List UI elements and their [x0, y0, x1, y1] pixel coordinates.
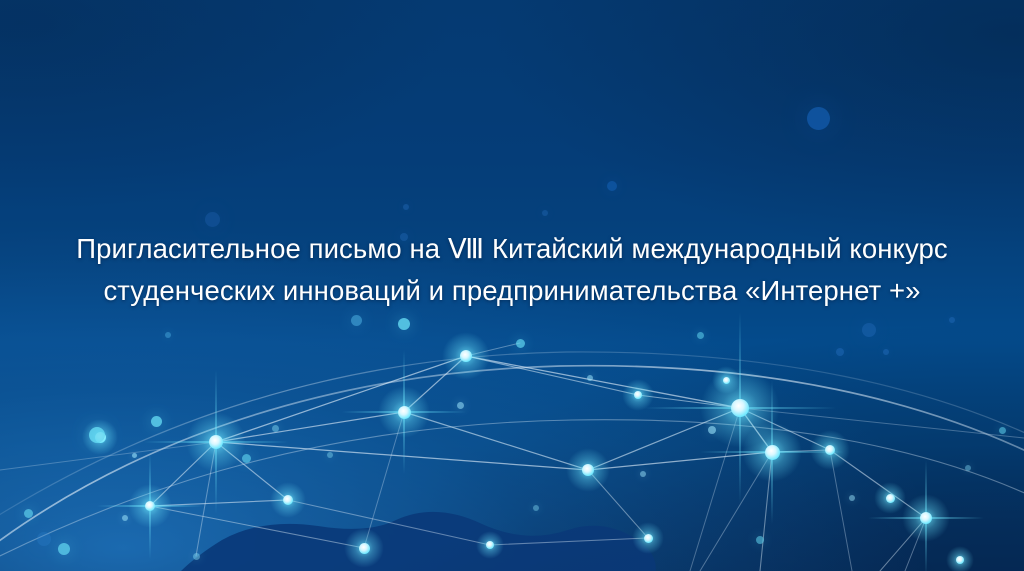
particle: [24, 509, 33, 518]
particle: [58, 543, 70, 555]
particle: [398, 318, 410, 330]
particle: [640, 471, 646, 477]
node-glow: [632, 522, 664, 554]
particle: [862, 323, 876, 337]
particle: [205, 212, 220, 227]
node-core: [486, 541, 494, 549]
particle: [697, 332, 704, 339]
node-flare: [97, 505, 203, 507]
node-glow: [700, 368, 780, 448]
particle: [89, 427, 105, 443]
title-line-1: Пригласительное письмо на Ⅷ Китайский ме…: [22, 228, 1002, 270]
particle: [242, 454, 251, 463]
node-flare: [771, 380, 773, 524]
title-line-1-prefix: Пригласительное письмо на: [76, 233, 448, 264]
particle: [807, 107, 830, 130]
globe-sphere: [0, 390, 1024, 571]
particle: [351, 315, 362, 326]
node-glow: [902, 494, 950, 542]
node-glow: [344, 528, 384, 568]
node-flare: [868, 517, 983, 519]
node-glow: [82, 419, 118, 455]
node-core: [634, 391, 642, 399]
node-core: [731, 399, 749, 417]
particle: [883, 349, 889, 355]
particle: [122, 515, 128, 521]
node-core: [460, 350, 472, 362]
page-title: Пригласительное письмо на Ⅷ Китайский ме…: [0, 228, 1024, 312]
node-core: [825, 445, 835, 455]
particle: [516, 339, 525, 348]
particle: [607, 181, 617, 191]
particle: [756, 536, 764, 544]
node-flare: [144, 441, 288, 443]
title-line-2: студенческих инноваций и предприниматель…: [22, 270, 1002, 312]
particle: [272, 425, 279, 432]
node-core: [886, 494, 895, 503]
node-glow: [566, 448, 610, 492]
title-line-1-suffix: Китайский международный конкурс: [484, 233, 948, 264]
node-core: [209, 435, 223, 449]
globe-graphic: [0, 390, 1024, 571]
particle: [193, 553, 200, 560]
title-slide: Пригласительное письмо на Ⅷ Китайский ме…: [0, 0, 1024, 571]
particle: [37, 532, 51, 546]
particle: [165, 332, 171, 338]
node-glow: [128, 484, 172, 528]
node-core: [398, 406, 411, 419]
node-core: [920, 512, 932, 524]
particle: [542, 210, 548, 216]
node-glow: [946, 546, 974, 571]
particle: [151, 416, 162, 427]
node-flare: [700, 451, 844, 453]
node-core: [145, 501, 155, 511]
node-glow: [874, 482, 906, 514]
node-glow: [442, 332, 490, 380]
node-core: [283, 495, 293, 505]
node-flare: [215, 370, 217, 514]
globe-continents: [0, 390, 1024, 571]
particle: [327, 452, 333, 458]
node-core: [723, 377, 730, 384]
particle: [587, 375, 593, 381]
particle: [533, 505, 539, 511]
node-flare: [925, 460, 927, 571]
node-core: [644, 534, 653, 543]
particle: [836, 348, 844, 356]
node-core: [956, 556, 964, 564]
particle: [708, 426, 716, 434]
particle: [965, 465, 971, 471]
node-core: [95, 432, 106, 443]
node-glow: [712, 366, 740, 394]
node-core: [359, 543, 370, 554]
node-core: [765, 445, 780, 460]
particle: [849, 495, 855, 501]
particle: [999, 427, 1006, 434]
node-glow: [810, 430, 850, 470]
node-glow: [476, 531, 504, 559]
node-glow: [186, 412, 246, 472]
particle: [403, 204, 409, 210]
globe-shading: [0, 390, 1024, 571]
particle: [457, 402, 464, 409]
particle: [132, 453, 137, 458]
node-glow: [378, 386, 430, 438]
node-flare: [739, 312, 741, 504]
node-glow: [270, 482, 306, 518]
node-core: [582, 464, 594, 476]
node-flare: [403, 350, 405, 475]
particle: [949, 317, 955, 323]
node-flare: [644, 407, 836, 409]
node-flare: [342, 411, 467, 413]
globe-atmosphere-halo: [0, 332, 1024, 571]
node-flare: [149, 453, 151, 559]
node-glow: [742, 422, 802, 482]
node-glow: [622, 379, 654, 411]
roman-numeral-eight: Ⅷ: [448, 233, 484, 265]
